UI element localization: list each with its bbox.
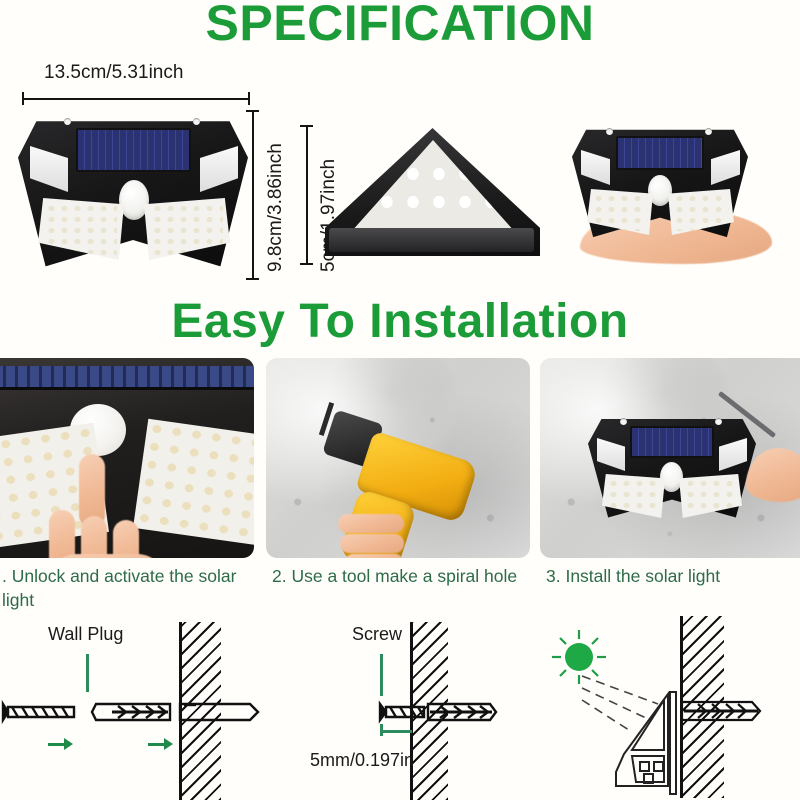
screw-label: Screw (352, 624, 402, 645)
photo-finger-pressing-power-button (0, 358, 254, 558)
screw-diagram: Screw 5mm/0.197in (300, 612, 550, 800)
wall-hatch (181, 622, 221, 800)
pir-motion-sensor (119, 180, 149, 220)
wall-plug-label: Wall Plug (48, 624, 123, 645)
wall-plug-diagram: Wall Plug (0, 612, 300, 800)
dimension-height-rule (252, 110, 254, 280)
lamp-base (329, 228, 534, 252)
section-title-installation: Easy To Installation (0, 294, 800, 349)
dimension-depth-cap-top (300, 125, 313, 127)
photo-hand-screwing-light-onto-wall (540, 358, 800, 558)
arrow-2-tail (148, 743, 164, 746)
screw-hole-left (620, 418, 627, 425)
screw-hole-right (715, 418, 722, 425)
step-1-caption: . Unlock and activate the solar light (2, 565, 252, 612)
dimension-depth-cap-bottom (300, 263, 313, 265)
arrow-2-head (164, 738, 173, 750)
dimension-depth-rule (306, 125, 308, 265)
page-title-specification: SPECIFICATION (0, 0, 800, 52)
arrow-1-head (64, 738, 73, 750)
screw-hole-right (193, 118, 200, 125)
screw-size-tick-end (380, 724, 383, 736)
screw-size-tick (380, 730, 412, 733)
screw-hole-left (606, 128, 613, 135)
dimension-width-label: 13.5cm/5.31inch (44, 62, 183, 84)
solar-wall-light-in-hand (572, 120, 772, 260)
wall-plug-leader-line (86, 654, 89, 692)
solar-panel (616, 136, 704, 170)
wall-plug-in-wall (678, 694, 798, 728)
dimension-height-cap-bottom (246, 278, 259, 280)
solar-panel-closeup (0, 366, 254, 390)
arrow-1-tail (48, 743, 64, 746)
screw-size-label: 5mm/0.197in (310, 750, 414, 771)
solar-wall-light-front-view (18, 108, 248, 273)
dimension-height-label: 9.8cm/3.86inch (265, 143, 287, 272)
screw-hole-left (64, 118, 71, 125)
screw-hole-right (705, 128, 712, 135)
solar-panel (76, 128, 191, 172)
wall-plug-parts (0, 694, 300, 734)
step-3-caption: 3. Install the solar light (546, 565, 796, 589)
hand-pressing-button (47, 454, 177, 558)
photo-yellow-cordless-drill-on-concrete-wall (266, 358, 530, 558)
lamp-on-hand (572, 120, 748, 242)
solar-panel (630, 426, 714, 458)
wall-hatch (412, 622, 448, 800)
hand-gripping-drill (338, 508, 412, 558)
step-2-caption: 2. Use a tool make a spiral hole (272, 565, 522, 589)
dimension-width-cap-right (248, 92, 250, 105)
solar-wall-light-side-view (325, 128, 540, 256)
dimension-width-rule (22, 98, 250, 100)
mounted-light-diagram (528, 608, 800, 800)
product-spec-page: SPECIFICATION 13.5cm/5.31inch 9.8cm/3.86… (0, 0, 800, 800)
dimension-width-cap-left (22, 92, 24, 105)
screw-leader-line (380, 654, 383, 696)
mounted-solar-light (588, 410, 756, 522)
